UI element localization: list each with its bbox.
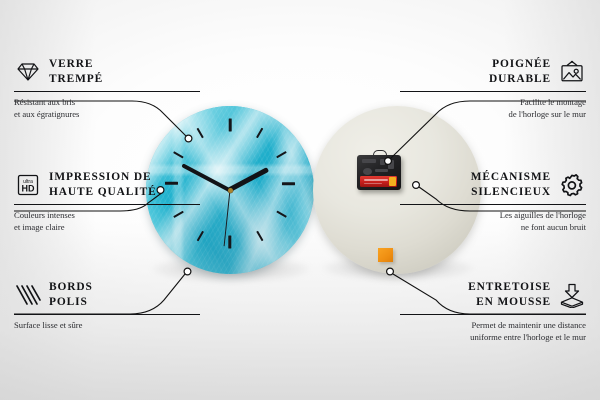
feature-divider	[14, 204, 200, 205]
hour-marker-6	[229, 236, 232, 249]
hour-marker-3	[282, 182, 295, 185]
feature-poignee-durable[interactable]: POIGNÉE DURABLE Facilite le montage de l…	[400, 57, 586, 120]
hour-marker-4	[276, 211, 287, 218]
feature-header: ENTRETOISE EN MOUSSE	[400, 280, 586, 310]
feature-title: ENTRETOISE EN MOUSSE	[468, 280, 551, 310]
hour-marker-12	[229, 119, 232, 132]
feature-title: IMPRESSION DE HAUTE QUALITÉ	[49, 170, 157, 200]
battery-positive-terminal	[389, 177, 396, 186]
diamond-icon	[14, 59, 42, 85]
feature-header: VERRE TREMPÉ	[14, 57, 200, 87]
feature-divider	[14, 314, 200, 315]
hanging-frame-icon	[558, 59, 586, 85]
battery-label-line-1	[364, 179, 388, 181]
feature-description: Permet de maintenir une distance uniform…	[400, 319, 586, 344]
feature-verre-trempe[interactable]: VERRE TREMPÉ Résistant aux bris et aux é…	[14, 57, 200, 120]
hour-marker-1	[256, 128, 263, 139]
feature-description: Couleurs intenses et image claire	[14, 209, 200, 234]
movement-detail-b	[380, 159, 385, 165]
feature-description: Les aiguilles de l'horloge ne font aucun…	[400, 209, 586, 234]
feature-header: MÉCANISME SILENCIEUX	[400, 170, 586, 200]
battery-label-line-2	[364, 183, 382, 185]
feature-header: ultra HD IMPRESSION DE HAUTE QUALITÉ	[14, 170, 200, 200]
feature-divider	[400, 91, 586, 92]
feature-description: Facilite le montage de l'horloge sur le …	[400, 96, 586, 121]
polished-edges-icon	[14, 282, 42, 308]
hour-marker-5	[256, 231, 263, 242]
feature-divider	[400, 204, 586, 205]
ultra-hd-icon: ultra HD	[14, 172, 42, 198]
gear-icon	[558, 172, 586, 198]
feature-impression-haute-qualite[interactable]: ultra HD IMPRESSION DE HAUTE QUALITÉ Cou…	[14, 170, 200, 233]
movement-housing	[357, 155, 401, 190]
movement-detail-c	[388, 160, 394, 169]
feature-description: Surface lisse et sûre	[14, 319, 200, 331]
feature-mecanisme-silencieux[interactable]: MÉCANISME SILENCIEUX Les aiguilles de l'…	[400, 170, 586, 233]
hour-marker-11	[197, 128, 204, 139]
feature-description: Résistant aux bris et aux égratignures	[14, 96, 200, 121]
feature-header: POIGNÉE DURABLE	[400, 57, 586, 87]
aa-battery	[360, 176, 397, 187]
foam-spacer-pad	[378, 248, 393, 262]
infographic-canvas: VERRE TREMPÉ Résistant aux bris et aux é…	[0, 0, 600, 400]
clock-movement	[357, 150, 401, 190]
movement-detail-d	[363, 168, 372, 175]
feature-bords-polis[interactable]: BORDS POLIS Surface lisse et sûre	[14, 280, 200, 331]
press-down-pad-icon	[558, 282, 586, 308]
movement-detail-a	[362, 159, 376, 163]
feature-title: POIGNÉE DURABLE	[489, 57, 551, 87]
movement-detail-e	[375, 169, 388, 172]
feature-divider	[14, 91, 200, 92]
feature-title: MÉCANISME SILENCIEUX	[471, 170, 551, 200]
feature-header: BORDS POLIS	[14, 280, 200, 310]
feature-entretoise-en-mousse[interactable]: ENTRETOISE EN MOUSSE Permet de maintenir…	[400, 280, 586, 343]
feature-title: BORDS POLIS	[49, 280, 93, 310]
hour-marker-10	[173, 151, 184, 158]
feature-divider	[400, 314, 586, 315]
feature-title: VERRE TREMPÉ	[49, 57, 103, 87]
svg-text:HD: HD	[22, 184, 35, 194]
clock-center-cap	[228, 188, 233, 193]
hour-marker-2	[276, 151, 287, 158]
